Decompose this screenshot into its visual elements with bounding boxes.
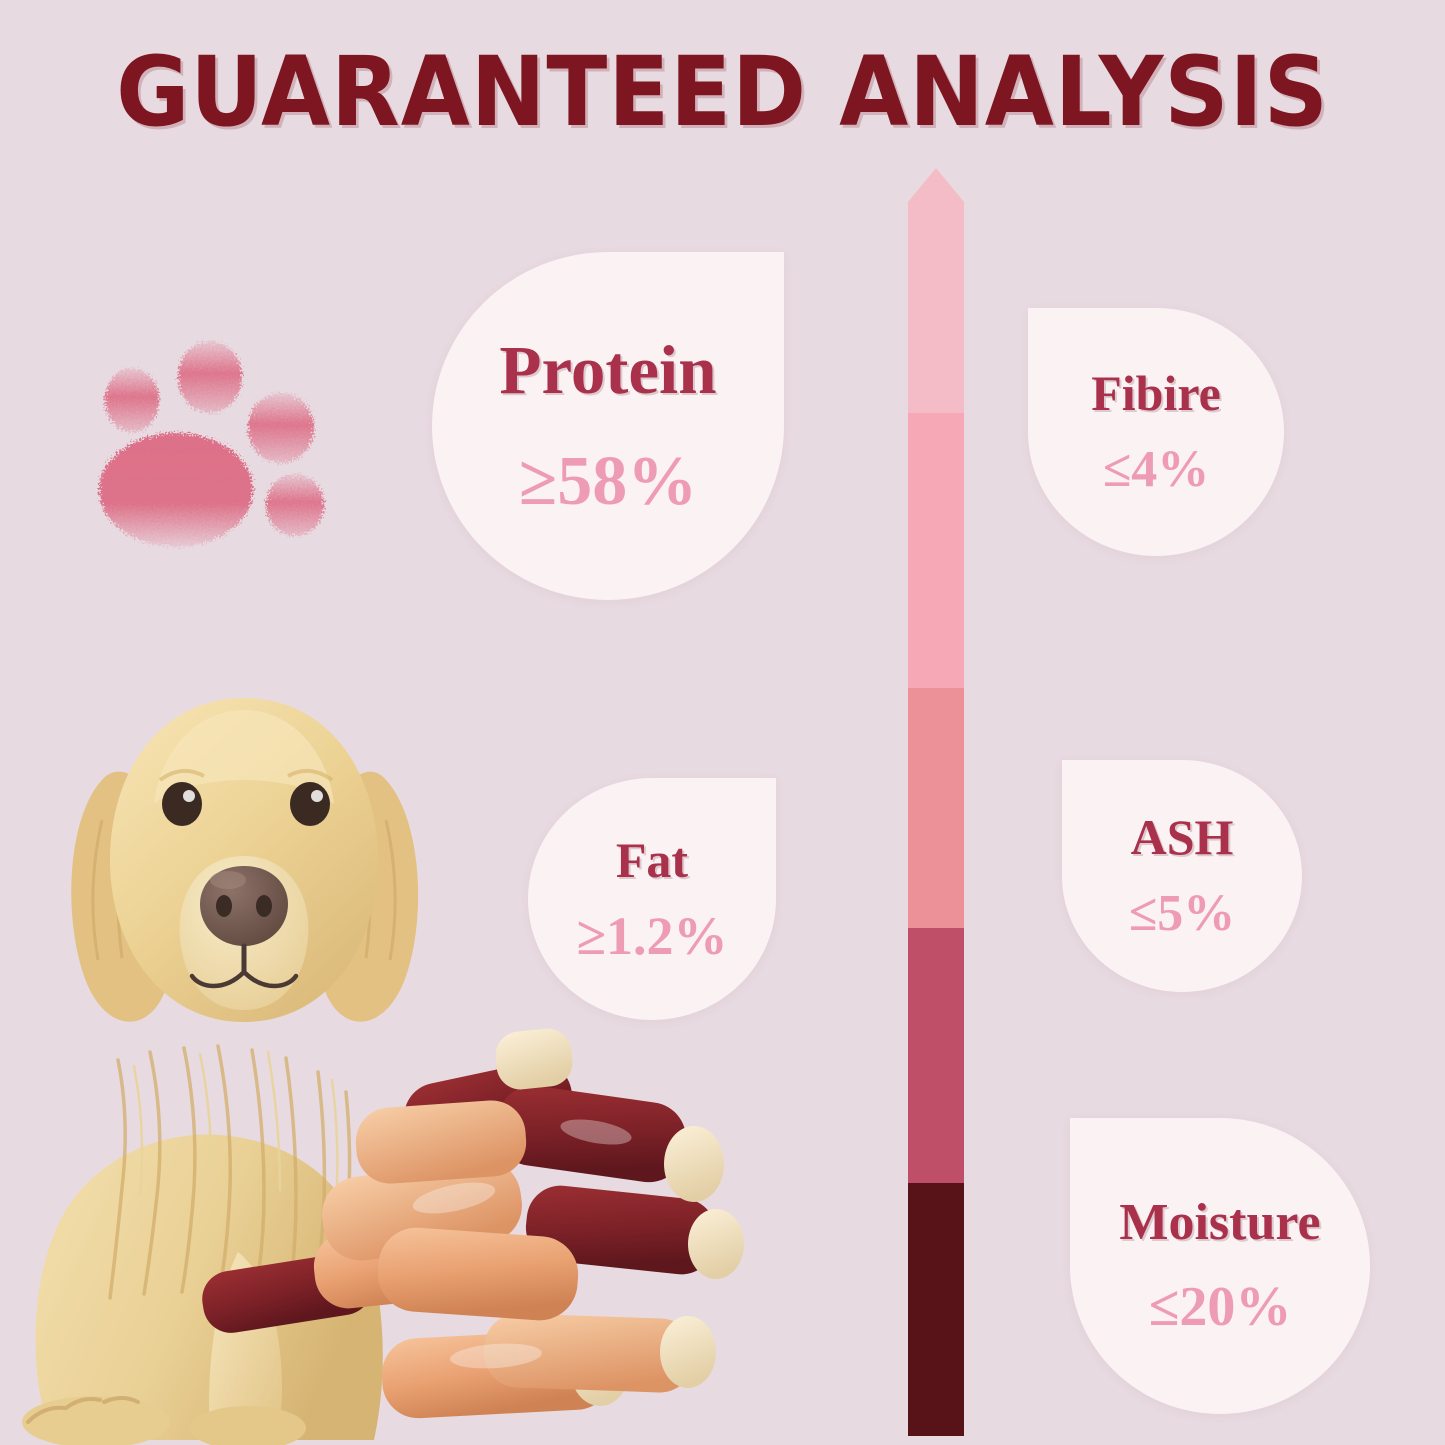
nutrient-label-fat: Fat bbox=[616, 835, 688, 885]
nutrient-bubble-moisture[interactable]: Moisture ≤20% bbox=[1070, 1118, 1370, 1414]
meter-band-2 bbox=[908, 413, 964, 688]
nutrient-label-ash: ASH bbox=[1131, 812, 1234, 862]
nutrient-bubble-ash[interactable]: ASH ≤5% bbox=[1062, 760, 1302, 992]
meter-band-5 bbox=[908, 1183, 964, 1436]
nutrient-meter-bar bbox=[908, 168, 964, 1436]
nutrient-label-fibire: Fibire bbox=[1091, 368, 1221, 418]
page-title: GUARANTEED ANALYSIS bbox=[51, 42, 1395, 143]
nutrient-value-ash: ≤5% bbox=[1129, 888, 1236, 940]
dog-treats-pile bbox=[196, 1016, 826, 1445]
nutrient-label-protein: Protein bbox=[499, 336, 716, 405]
meter-arrow-tip bbox=[908, 168, 964, 202]
meter-band-4 bbox=[908, 928, 964, 1183]
nutrient-value-fat: ≥1.2% bbox=[576, 909, 727, 963]
nutrient-value-moisture: ≤20% bbox=[1149, 1279, 1292, 1335]
nutrient-value-fibire: ≤4% bbox=[1103, 444, 1210, 496]
nutrient-label-moisture: Moisture bbox=[1119, 1197, 1320, 1249]
guaranteed-analysis-poster: GUARANTEED ANALYSIS bbox=[0, 0, 1445, 1445]
paw-print-icon bbox=[78, 330, 338, 580]
meter-band-1 bbox=[908, 201, 964, 413]
nutrient-bubble-fibire[interactable]: Fibire ≤4% bbox=[1028, 308, 1284, 556]
nutrient-bubble-protein[interactable]: Protein ≥58% bbox=[432, 252, 784, 600]
meter-band-3 bbox=[908, 688, 964, 928]
nutrient-bubble-fat[interactable]: Fat ≥1.2% bbox=[528, 778, 776, 1020]
meter-shaft bbox=[908, 201, 964, 1436]
nutrient-value-protein: ≥58% bbox=[519, 447, 697, 517]
